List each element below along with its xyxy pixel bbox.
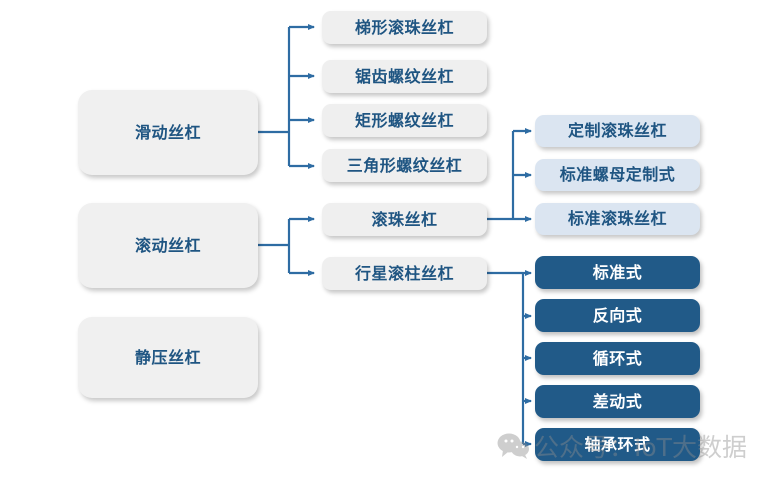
node-label: 滚珠丝杠 [371,211,437,229]
node-level3-standard-nut-custom[interactable]: 标准螺母定制式 [535,159,700,191]
node-label: 轴承环式 [584,436,650,454]
node-label: 滚动丝杠 [135,237,201,255]
node-level3-custom-ball-screw[interactable]: 定制滚珠丝杠 [535,115,700,147]
node-level1-sliding-screw[interactable]: 滑动丝杠 [78,90,258,175]
node-label: 循环式 [593,350,643,368]
node-label: 锯齿螺纹丝杠 [355,68,454,86]
node-label: 矩形螺纹丝杠 [355,112,454,130]
node-label: 标准式 [593,264,643,282]
node-label: 静压丝杠 [135,349,201,367]
node-level3-differential-type[interactable]: 差动式 [535,385,700,418]
node-level2-triangular-thread-screw[interactable]: 三角形螺纹丝杠 [322,149,487,182]
node-level2-square-thread-screw[interactable]: 矩形螺纹丝杠 [322,104,487,137]
diagram-canvas: 滑动丝杠 滚动丝杠 静压丝杠 梯形滚珠丝杠 锯齿螺纹丝杠 矩形螺纹丝杠 三角形螺… [0,0,766,478]
node-label: 梯形滚珠丝杠 [355,19,454,37]
node-label: 标准滚珠丝杠 [568,210,667,228]
node-level2-trapezoid-ball-screw[interactable]: 梯形滚珠丝杠 [322,11,487,44]
node-level1-hydrostatic-screw[interactable]: 静压丝杠 [78,317,258,398]
node-level1-rolling-screw[interactable]: 滚动丝杠 [78,203,258,288]
node-label: 行星滚柱丝杠 [355,265,454,283]
node-level3-standard-ball-screw[interactable]: 标准滚珠丝杠 [535,203,700,235]
node-level3-standard-type[interactable]: 标准式 [535,256,700,289]
wechat-icon [497,432,529,460]
node-level2-planetary-roller-screw[interactable]: 行星滚柱丝杠 [322,257,487,290]
node-level3-reverse-type[interactable]: 反向式 [535,299,700,332]
node-level3-bearing-ring-type[interactable]: 轴承环式 [535,428,700,461]
node-label: 标准螺母定制式 [560,166,676,184]
node-label: 三角形螺纹丝杠 [347,157,463,175]
node-label: 定制滚珠丝杠 [568,122,667,140]
node-label: 滑动丝杠 [135,124,201,142]
node-label: 差动式 [593,393,643,411]
node-label: 反向式 [593,307,643,325]
node-level3-recirculating-type[interactable]: 循环式 [535,342,700,375]
node-level2-buttress-thread-screw[interactable]: 锯齿螺纹丝杠 [322,60,487,93]
node-level2-ball-screw[interactable]: 滚珠丝杠 [322,203,487,236]
